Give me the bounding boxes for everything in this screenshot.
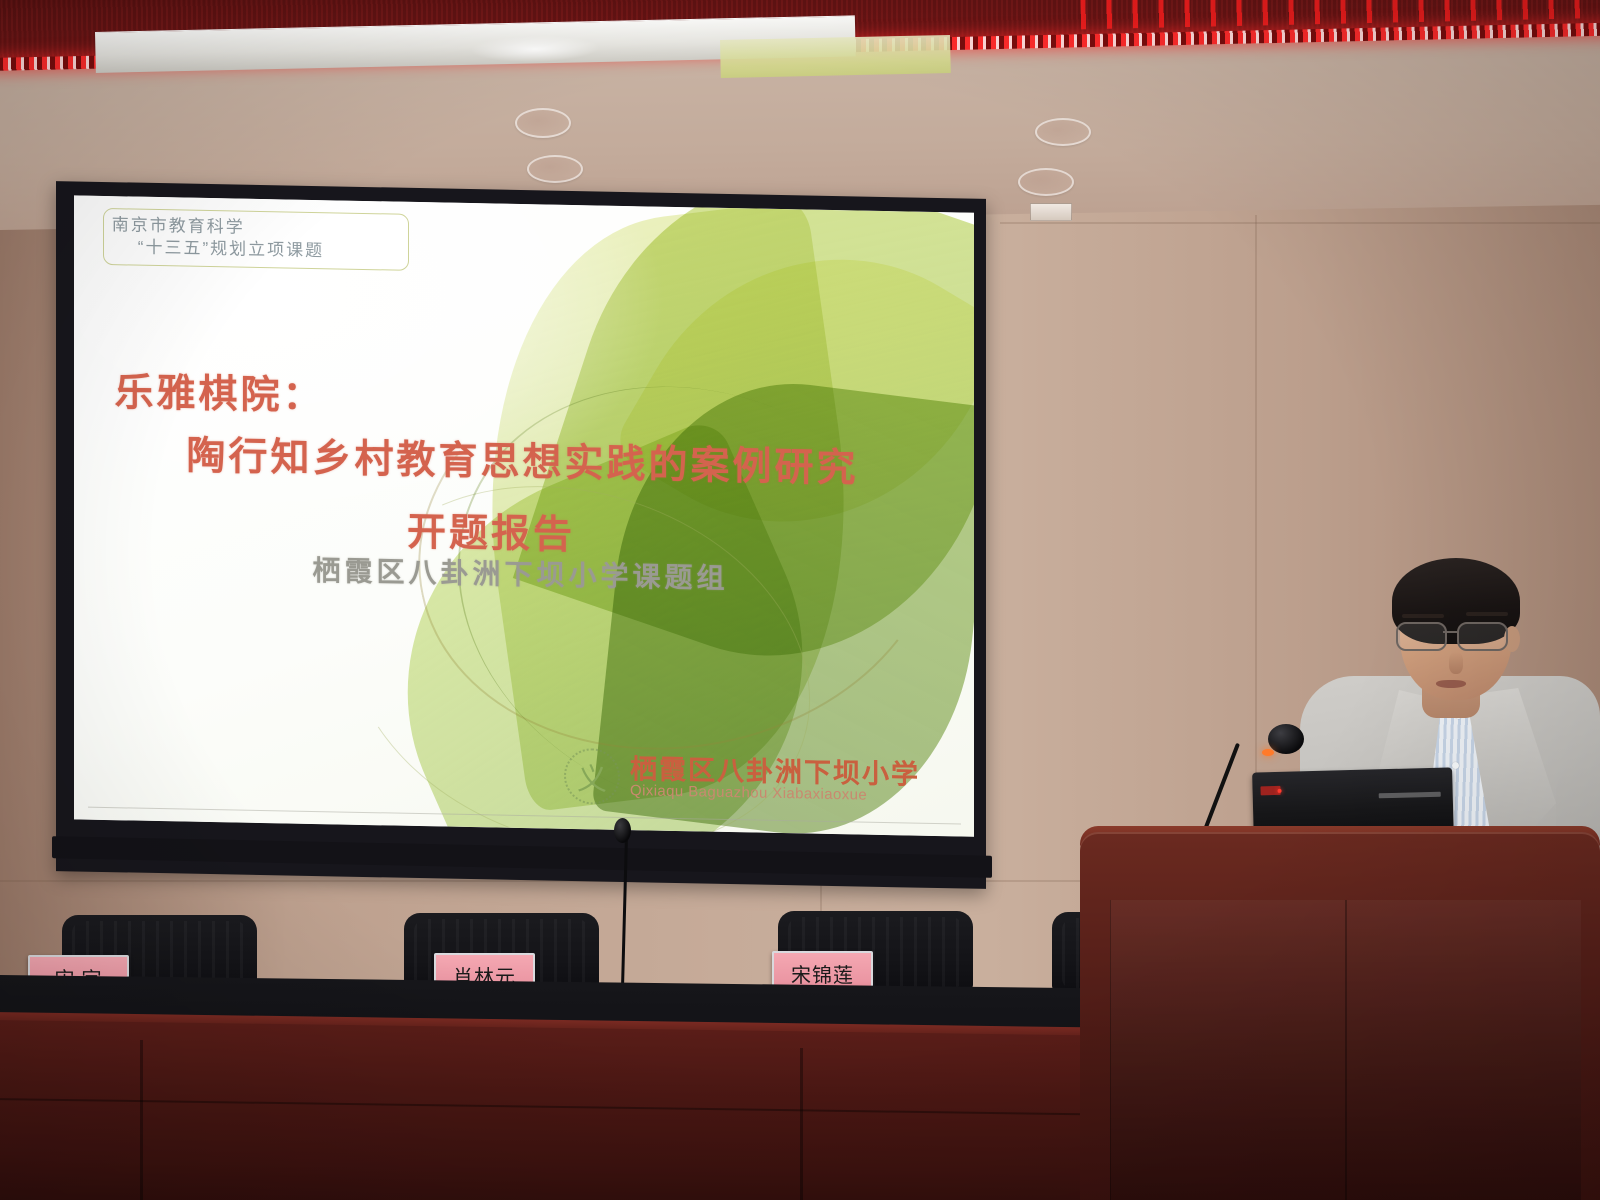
- school-logo: 义 栖霞区八卦洲下坝小学 Qixiaqu Baguazhou Xiabaxiao…: [564, 748, 920, 811]
- shirt-button: [1452, 762, 1459, 769]
- slide-title-line-2: 陶行知乡村教育思想实践的案例研究: [187, 425, 975, 496]
- table-groove: [800, 1048, 803, 1200]
- valance-green-accent: [720, 35, 951, 78]
- laptop-indicator-led: [1278, 789, 1282, 793]
- eyeglass-lens: [1396, 622, 1447, 651]
- podium-seam: [1345, 900, 1347, 1200]
- badge-line-2: “十三五”规划立项课题: [112, 236, 400, 264]
- podium-microphone-icon: [1268, 724, 1304, 754]
- eyeglass-lens: [1457, 622, 1508, 651]
- ceiling-downlight-icon: [515, 108, 571, 138]
- speaker-nose: [1449, 652, 1463, 674]
- speaker-eyebrow: [1402, 614, 1444, 618]
- table-groove: [140, 1040, 143, 1200]
- ceiling-downlight-icon: [1018, 168, 1074, 196]
- speaker-mouth: [1436, 680, 1466, 688]
- school-emblem-icon: 义: [564, 748, 620, 805]
- photo-scene: 南京市教育科学 “十三五”规划立项课题 乐雅棋院： 陶行知乡村教育思想实践的案例…: [0, 0, 1600, 1200]
- projection-screen: 南京市教育科学 “十三五”规划立项课题 乐雅棋院： 陶行知乡村教育思想实践的案例…: [56, 181, 986, 889]
- presentation-slide: 南京市教育科学 “十三五”规划立项课题 乐雅棋院： 陶行知乡村教育思想实践的案例…: [74, 195, 974, 836]
- speaker-eyebrow: [1466, 612, 1508, 616]
- valance-glare: [470, 35, 601, 64]
- wall-sensor-icon: [1030, 203, 1072, 221]
- table-microphone-icon: [614, 818, 631, 843]
- laptop-brand-mark: [1379, 792, 1441, 799]
- ceiling-downlight-icon: [1035, 118, 1091, 146]
- slide-title-block: 乐雅棋院： 陶行知乡村教育思想实践的案例研究 开题报告: [74, 361, 974, 568]
- school-logo-text: 栖霞区八卦洲下坝小学 Qixiaqu Baguazhou Xiabaxiaoxu…: [630, 755, 920, 805]
- project-category-badge: 南京市教育科学 “十三五”规划立项课题: [103, 208, 409, 270]
- head-table-front: [0, 1020, 1130, 1200]
- projected-slide-area: 南京市教育科学 “十三五”规划立项课题 乐雅棋院： 陶行知乡村教育思想实践的案例…: [74, 195, 974, 836]
- podium-microphone-led: [1262, 749, 1274, 756]
- wall-seam: [1000, 222, 1600, 224]
- wall-seam: [1255, 215, 1257, 855]
- eyeglass-bridge: [1443, 631, 1457, 633]
- eyeglasses-icon: [1396, 622, 1516, 648]
- ceiling-downlight-icon: [527, 155, 583, 183]
- nameplate-text: 宋锦莲: [791, 959, 854, 988]
